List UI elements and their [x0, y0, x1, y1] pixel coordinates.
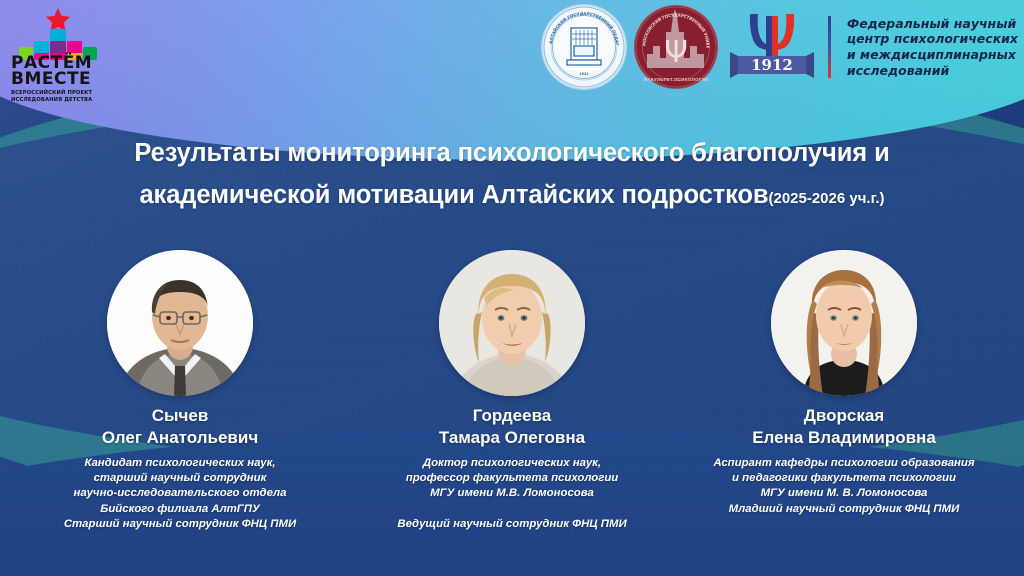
presenter-affiliation: Доктор психологических наук, профессор ф… [352, 456, 672, 502]
organization-logos: АЛТАЙСКИЙ ГОСУДАРСТВЕННЫЙ ПЕДАГОГИЧЕСКИЙ… [542, 4, 1018, 90]
presenter-given-name: Олег Анатольевич [20, 427, 340, 449]
presenter-affiliation-secondary: Ведущий научный сотрудник ФНЦ ПМИ [352, 517, 672, 532]
presenter-card: Гордеева Тамара Олеговна Доктор психолог… [352, 250, 672, 532]
portrait-gordeeva [439, 250, 585, 396]
title-line-2: академической мотивации Алтайских подрос… [139, 181, 768, 209]
portrait-sychev [107, 250, 253, 396]
brand-blocks-icon [14, 8, 102, 58]
brand-logo-text: РАСТЁМ ВМЕСТЕ ВСЕРОССИЙСКИЙ ПРОЕКТ ИССЛЕ… [11, 56, 105, 103]
avatar [107, 250, 253, 396]
fnc-organization-name: Федеральный научный центр психологически… [847, 16, 1018, 78]
portrait-dvorskaya [771, 250, 917, 396]
avatar [439, 250, 585, 396]
presenter-given-name: Елена Владимировна [684, 427, 1004, 449]
svg-text:ФАКУЛЬТЕТ ПСИХОЛОГИИ: ФАКУЛЬТЕТ ПСИХОЛОГИИ [643, 77, 708, 82]
avatar [771, 250, 917, 396]
title-line-2-row: академической мотивации Алтайских подрос… [40, 174, 984, 220]
presenters-list: Сычев Олег Анатольевич Кандидат психолог… [0, 250, 1024, 532]
presenter-affiliation: Аспирант кафедры психологии образования … [684, 456, 1004, 517]
presenter-surname: Сычев [20, 405, 340, 427]
presenter-card: Сычев Олег Анатольевич Кандидат психолог… [20, 250, 340, 532]
brand-line-2: ВМЕСТЕ [11, 71, 105, 87]
star-icon [46, 8, 70, 31]
presenter-given-name: Тамара Олеговна [352, 427, 672, 449]
psi-1912-art: 1912 [726, 6, 818, 88]
svg-text:Ψ: Ψ [664, 35, 688, 70]
presenter-card: Дворская Елена Владимировна Аспирант каф… [684, 250, 1004, 517]
altgpu-seal-art: АЛТАЙСКИЙ ГОСУДАРСТВЕННЫЙ ПЕДАГОГИЧЕСКИЙ… [543, 6, 625, 88]
svg-text:1933: 1933 [579, 71, 589, 76]
msu-seal-art: Ψ МОСКОВСКИЙ ГОСУДАРСТВЕННЫЙ УНИВЕРСИТЕТ… [635, 6, 717, 88]
presenter-surname: Гордеева [352, 405, 672, 427]
presenter-surname: Дворская [684, 405, 1004, 427]
msu-psychology-seal-icon: Ψ МОСКОВСКИЙ ГОСУДАРСТВЕННЫЙ УНИВЕРСИТЕТ… [634, 5, 718, 89]
presenter-affiliation: Кандидат психологических наук, старший н… [20, 456, 340, 532]
title-line-1: Результаты мониторинга психологического … [40, 132, 984, 174]
brand-subtitle: ВСЕРОССИЙСКИЙ ПРОЕКТ ИССЛЕДОВАНИЯ ДЕТСТВ… [11, 90, 105, 103]
psi-year-text: 1912 [751, 56, 793, 74]
brand-logo: РАСТЁМ ВМЕСТЕ ВСЕРОССИЙСКИЙ ПРОЕКТ ИССЛЕ… [8, 2, 108, 98]
title-academic-year: (2025-2026 уч.г.) [768, 190, 884, 207]
psi-1912-logo-icon: 1912 [726, 6, 818, 88]
page-title: Результаты мониторинга психологического … [0, 132, 1024, 220]
slide-root: РАСТЁМ ВМЕСТЕ ВСЕРОССИЙСКИЙ ПРОЕКТ ИССЛЕ… [0, 0, 1024, 576]
altgpu-seal-icon: АЛТАЙСКИЙ ГОСУДАРСТВЕННЫЙ ПЕДАГОГИЧЕСКИЙ… [542, 5, 626, 89]
fnc-divider [828, 16, 831, 78]
